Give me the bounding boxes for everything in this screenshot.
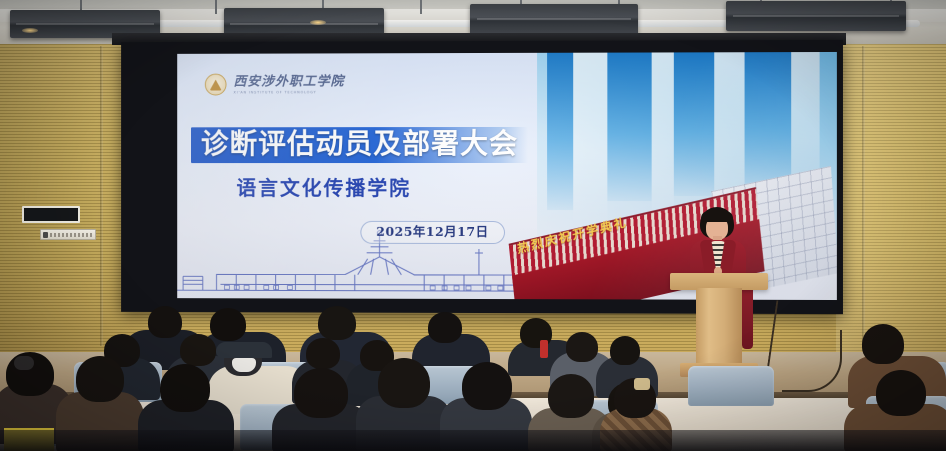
audience-head [76,356,124,402]
hair-clip-icon [14,356,34,370]
face-mask-icon [232,358,256,372]
slide-subtitle: 语言文化传播学院 [236,178,411,198]
lamp-glow [22,28,38,33]
audience-jacket [4,428,54,451]
audience-head [180,334,216,366]
audience-head [548,374,594,418]
ceiling-lamp [726,1,906,31]
slide-bar [573,53,607,221]
audience-head [428,312,462,343]
auditorium-seat[interactable] [688,366,774,406]
logo-text-group: 西安涉外职工学院 XI'AN INSTITUTE OF TECHNOLOGY [233,75,344,94]
wall-control-panel[interactable] [40,229,96,240]
audience-head [148,306,182,338]
slide-bar [607,53,651,201]
slide-bar [547,53,573,211]
slide-bar [674,52,714,195]
slide-date-pill: 2025年12月17日 [360,221,504,244]
baseball-cap-icon [216,342,272,358]
slide-bar [714,52,744,205]
conference-photo: 热烈庆祝开学典礼 西安涉外职工学院 XI'AN INSTITUTE OF TEC… [0,0,946,451]
wall-vent [22,206,80,223]
audience-head [566,332,598,362]
lamp-glow [310,20,326,25]
slide-bar [745,52,792,191]
audience-head [876,370,926,416]
audience-head [862,324,904,364]
slide-bar [652,52,674,215]
slide-title: 诊断评估动员及部署大会 [201,130,518,158]
water-bottle [540,340,548,358]
lamp-rod [420,0,422,14]
audience-head [462,362,512,410]
audience-head [306,338,340,369]
university-logo: 西安涉外职工学院 XI'AN INSTITUTE OF TECHNOLOGY [205,73,345,95]
audience-head [210,308,246,341]
logo-english-name: XI'AN INSTITUTE OF TECHNOLOGY [233,90,344,94]
audience-head [610,336,640,365]
university-crest-icon [205,74,227,96]
control-panel-label [50,233,93,237]
control-switch-icon[interactable] [43,232,48,238]
ceiling-lamp [470,4,638,35]
lamp-rod [215,0,217,14]
speaker-fringe [701,211,733,222]
slide-title-band: 诊断评估动员及部署大会 [191,127,528,163]
audience-head [378,358,430,408]
audience-head [160,364,210,412]
logo-chinese-name: 西安涉外职工学院 [233,75,344,88]
audience-head [318,306,356,340]
audience-head [294,368,348,418]
hair-clip-icon [634,378,650,390]
seated-audience [0,300,946,451]
slide-date: 2025年12月17日 [376,226,488,239]
